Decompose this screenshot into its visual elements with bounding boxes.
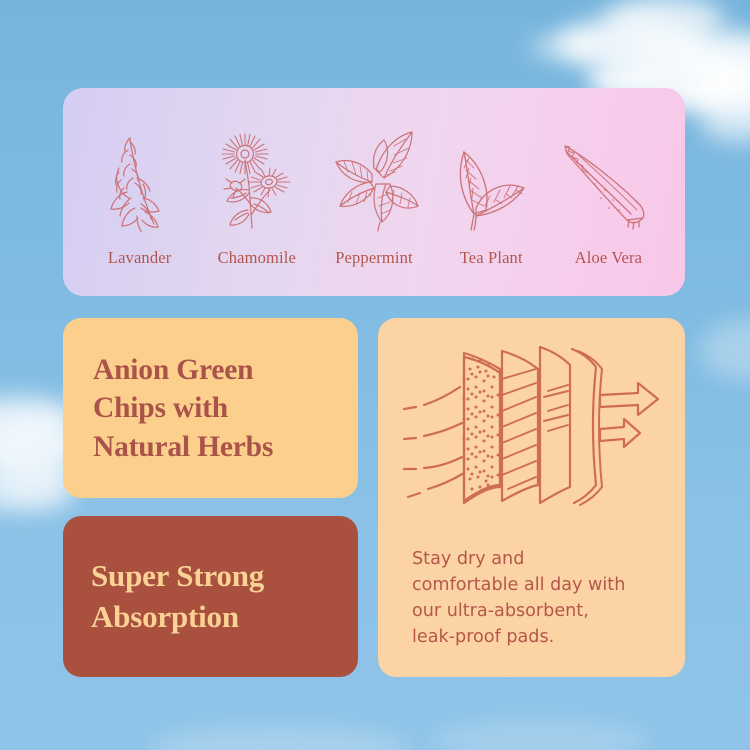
cloud-shape (700, 104, 750, 144)
herb-label: Aloe Vera (575, 248, 642, 268)
lavender-sprig-icon (97, 128, 183, 232)
cloud-shape (0, 486, 70, 516)
herb-list: Lavander (63, 88, 685, 296)
cloud-shape (556, 18, 706, 70)
cloud-shape (528, 34, 598, 60)
tea-plant-leaves-icon (444, 128, 538, 232)
cloud-shape (700, 320, 750, 380)
chamomile-flower-icon (212, 128, 302, 232)
herb-item-lavander[interactable]: Lavander (81, 128, 198, 268)
aloe-vera-leaf-icon (557, 128, 659, 232)
pad-card-description: Stay dry and comfortable all day with ou… (412, 546, 669, 650)
anion-green-chips-card[interactable]: Anion Green Chips with Natural Herbs (63, 318, 358, 498)
infographic-stage: Lavander (0, 0, 750, 750)
herb-item-peppermint[interactable]: Peppermint (315, 128, 432, 268)
herb-item-aloe-vera[interactable]: Aloe Vera (550, 128, 667, 268)
absorption-card-title: Super Strong Absorption (91, 556, 348, 638)
natural-herbs-panel: Lavander (63, 88, 685, 296)
pad-layers-card[interactable]: Stay dry and comfortable all day with ou… (378, 318, 685, 677)
herb-label: Chamomile (218, 248, 296, 268)
anion-card-title: Anion Green Chips with Natural Herbs (93, 351, 344, 466)
herb-label: Tea Plant (460, 248, 523, 268)
peppermint-leaves-icon (324, 128, 424, 232)
super-strong-absorption-card[interactable]: Super Strong Absorption (63, 516, 358, 677)
herb-label: Lavander (108, 248, 172, 268)
cloud-shape (690, 66, 750, 120)
herb-item-chamomile[interactable]: Chamomile (198, 128, 315, 268)
herb-item-tea-plant[interactable]: Tea Plant (433, 128, 550, 268)
pad-layers-airflow-diagram (378, 330, 685, 535)
cloud-shape (604, 0, 724, 42)
cloud-shape (150, 726, 410, 750)
herb-label: Peppermint (335, 248, 413, 268)
cloud-shape (430, 720, 650, 750)
cloud-shape (672, 30, 750, 78)
